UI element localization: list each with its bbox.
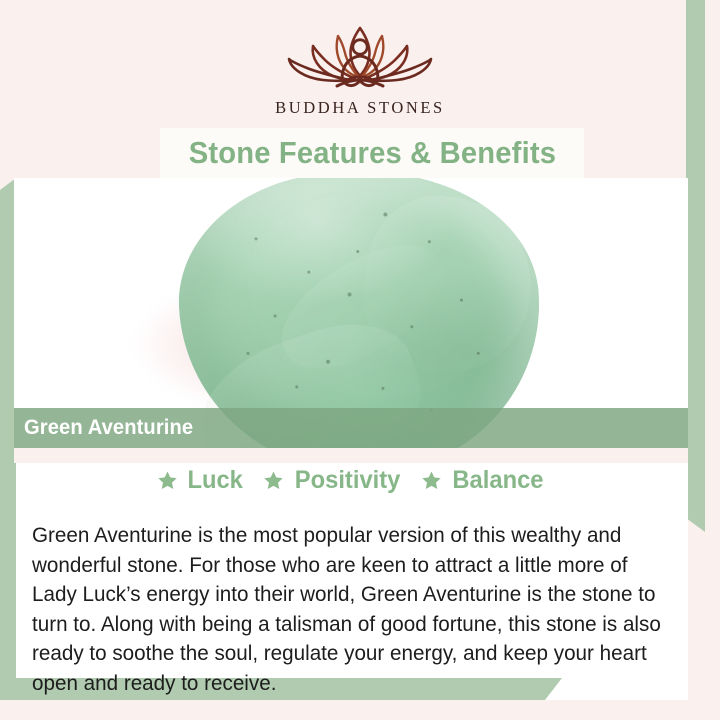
title-banner: Stone Features & Benefits	[160, 128, 584, 178]
star-icon	[156, 469, 179, 492]
description-text: Green Aventurine is the most popular ver…	[32, 521, 669, 698]
product-name: Green Aventurine	[24, 416, 193, 440]
benefit-label: Luck	[188, 466, 243, 495]
benefit-label: Positivity	[294, 466, 400, 495]
stone-infographic: BUDDHA STONES Stone Features & Benefits	[0, 0, 720, 720]
product-label-bar: Green Aventurine	[14, 408, 688, 448]
brand-logo: BUDDHA STONES	[0, 20, 720, 118]
star-icon	[262, 469, 285, 492]
header: BUDDHA STONES Stone Features & Benefits	[0, 0, 720, 178]
stone-speck	[255, 237, 258, 240]
brand-wordmark: BUDDHA STONES	[0, 98, 720, 118]
benefit-item-luck: Luck	[156, 466, 244, 495]
stone-speck	[356, 250, 359, 253]
benefit-item-positivity: Positivity	[262, 466, 403, 495]
lotus-meditation-icon	[275, 20, 445, 94]
label-divider-strip	[14, 448, 688, 463]
stone-speck	[307, 271, 310, 274]
benefits-list: Luck Positivity Balance	[14, 466, 688, 495]
benefit-label: Balance	[452, 466, 543, 495]
stone-speck	[273, 314, 276, 317]
page-title: Stone Features & Benefits	[188, 135, 555, 171]
stone-speck	[246, 352, 249, 355]
benefit-item-balance: Balance	[420, 466, 546, 495]
stone-speck	[460, 299, 463, 302]
stone-speck	[383, 212, 387, 216]
stone-speck	[295, 385, 298, 388]
star-icon	[420, 469, 443, 492]
